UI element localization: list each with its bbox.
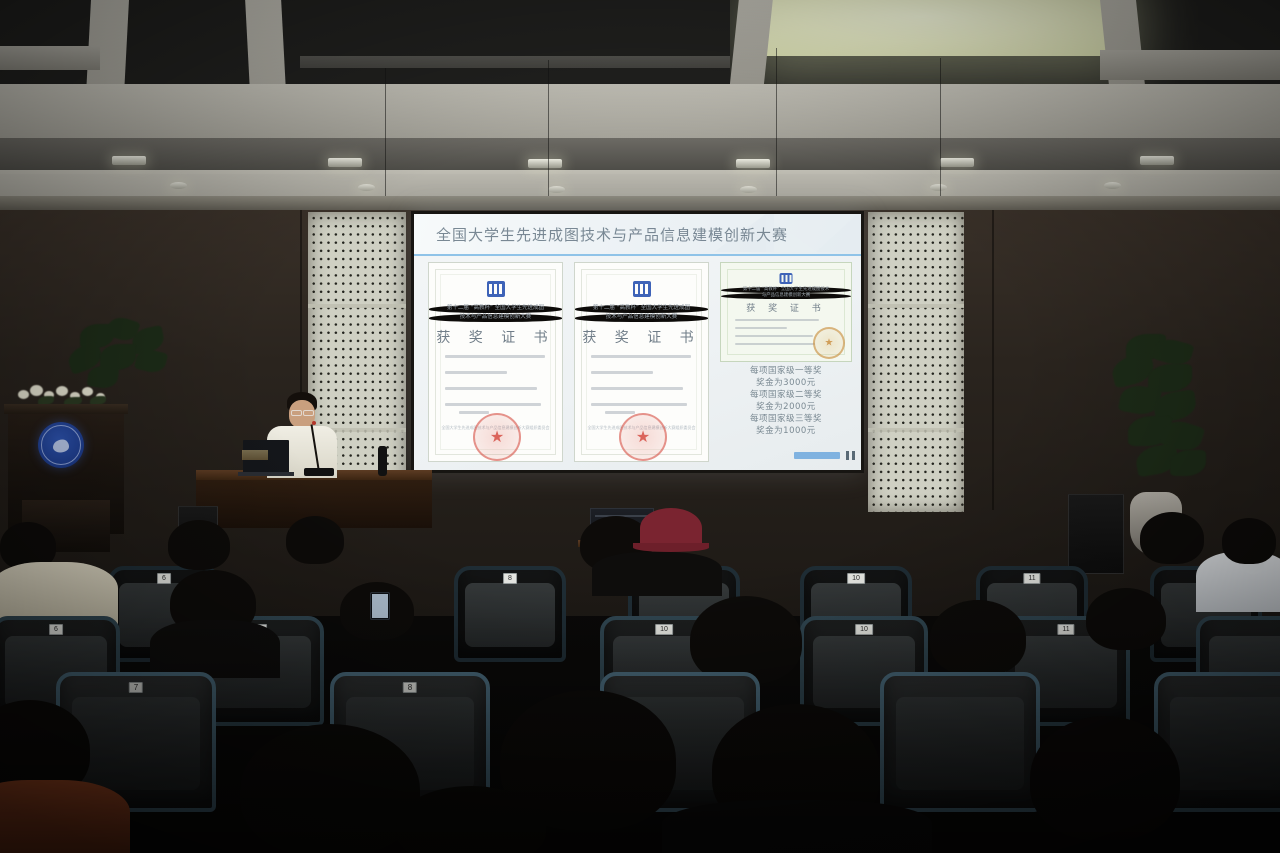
certificate-header-line2: 技术与产品信息建模创新大赛 xyxy=(575,314,708,322)
seat-number: 6 xyxy=(49,624,63,635)
loudspeaker-right xyxy=(1068,494,1124,574)
acoustic-panel-right xyxy=(868,212,964,512)
ceiling-downlight xyxy=(940,158,974,167)
ceiling-downlight xyxy=(528,159,562,168)
ceiling-downlight xyxy=(328,158,362,167)
university-emblem-icon xyxy=(38,422,84,468)
smartphone[interactable] xyxy=(370,592,390,620)
prize-line-6: 奖金为1000元 xyxy=(720,426,852,437)
certificate-big-title: 获 奖 证 书 xyxy=(575,327,708,347)
prize-line-5: 每项国家级三等奖 xyxy=(720,414,852,425)
competition-logo-icon xyxy=(487,281,505,297)
ceiling-downlight xyxy=(736,159,770,168)
prize-line-1: 每项国家级一等奖 xyxy=(720,366,852,377)
audience-head xyxy=(690,596,802,684)
playback-progress-bar[interactable] xyxy=(794,452,840,459)
audience-head xyxy=(1222,518,1276,564)
certificate-big-title: 获 奖 证 书 xyxy=(429,327,562,347)
audience-head xyxy=(168,520,230,570)
seat-number: 6 xyxy=(157,573,171,584)
certificate-header-line1: 第十二届 “高教杯” 全国大学生先进成图 xyxy=(575,305,708,313)
audience-shoulders xyxy=(0,780,130,853)
seat-number: 8 xyxy=(503,573,517,584)
certificate-seal: ★ xyxy=(473,413,521,461)
slide-title-band: 全国大学生先进成图技术与产品信息建模创新大赛 xyxy=(414,214,861,256)
certificate-header-line2: 技术与产品信息建模创新大赛 xyxy=(429,314,562,322)
seat[interactable] xyxy=(880,672,1040,812)
projector-screen: 全国大学生先进成图技术与产品信息建模创新大赛 第十二届 “高教杯” 全国大学生先… xyxy=(411,211,864,473)
certificate-seal: ★ xyxy=(813,327,845,359)
seat-number: 10 xyxy=(655,624,673,635)
seat-number: 10 xyxy=(855,624,873,635)
audience-shoulders xyxy=(662,800,932,853)
certificate-header-line1: 第十二届 “高教杯” 全国大学生先进成图 xyxy=(429,305,562,313)
ceiling-light-panel xyxy=(760,0,1120,56)
pause-icon[interactable] xyxy=(846,451,849,460)
audience-head xyxy=(1086,588,1166,650)
certificate-big-title: 获 奖 证 书 xyxy=(721,301,851,314)
audience-shoulders xyxy=(592,552,722,596)
slide-surface: 全国大学生先进成图技术与产品信息建模创新大赛 第十二届 “高教杯” 全国大学生先… xyxy=(414,214,861,470)
audience-head xyxy=(286,516,344,564)
wall-trim xyxy=(0,196,1280,210)
certificate-seal: ★ xyxy=(619,413,667,461)
ceiling-downlight xyxy=(1140,156,1174,165)
desk-nameplate xyxy=(242,450,268,460)
seat-number: 11 xyxy=(1057,624,1074,635)
microphone-head-icon xyxy=(312,421,316,425)
seat-number: 10 xyxy=(847,573,865,584)
seat-number: 8 xyxy=(403,682,417,693)
prize-line-3: 每项国家级二等奖 xyxy=(720,390,852,401)
ceiling-downlight xyxy=(112,156,146,165)
eyeglasses-icon xyxy=(291,410,302,416)
audience-shoulders xyxy=(150,620,280,678)
seat-number: 11 xyxy=(1023,573,1040,584)
eyeglasses-icon xyxy=(303,410,314,416)
seat-number: 7 xyxy=(129,682,143,693)
audience-cap xyxy=(640,508,702,548)
prize-line-4: 奖金为2000元 xyxy=(720,402,852,413)
slide-title-text: 全国大学生先进成图技术与产品信息建模创新大赛 xyxy=(436,224,788,245)
pause-icon[interactable] xyxy=(852,451,855,460)
prize-line-2: 奖金为3000元 xyxy=(720,378,852,389)
microphone-unit xyxy=(378,446,387,476)
audience-head xyxy=(1140,512,1204,564)
competition-logo-icon xyxy=(633,281,651,297)
certificate-left: 第十二届 “高教杯” 全国大学生先进成图 技术与产品信息建模创新大赛 获 奖 证… xyxy=(428,262,563,462)
audience-head xyxy=(1030,716,1180,840)
auditorium-scene: 全国大学生先进成图技术与产品信息建模创新大赛 第十二届 “高教杯” 全国大学生先… xyxy=(0,0,1280,853)
microphone-base xyxy=(304,468,334,476)
ceiling xyxy=(0,0,1280,212)
audience-head xyxy=(930,600,1026,676)
seat[interactable]: 8 xyxy=(454,566,566,662)
audience-head xyxy=(240,724,420,853)
certificate-right: 第十二届 “高教杯” 全国大学生先进成图技术 与产品信息建模创新大赛 获 奖 证… xyxy=(720,262,852,362)
competition-logo-icon xyxy=(780,273,793,284)
certificate-middle: 第十二届 “高教杯” 全国大学生先进成图 技术与产品信息建模创新大赛 获 奖 证… xyxy=(574,262,709,462)
